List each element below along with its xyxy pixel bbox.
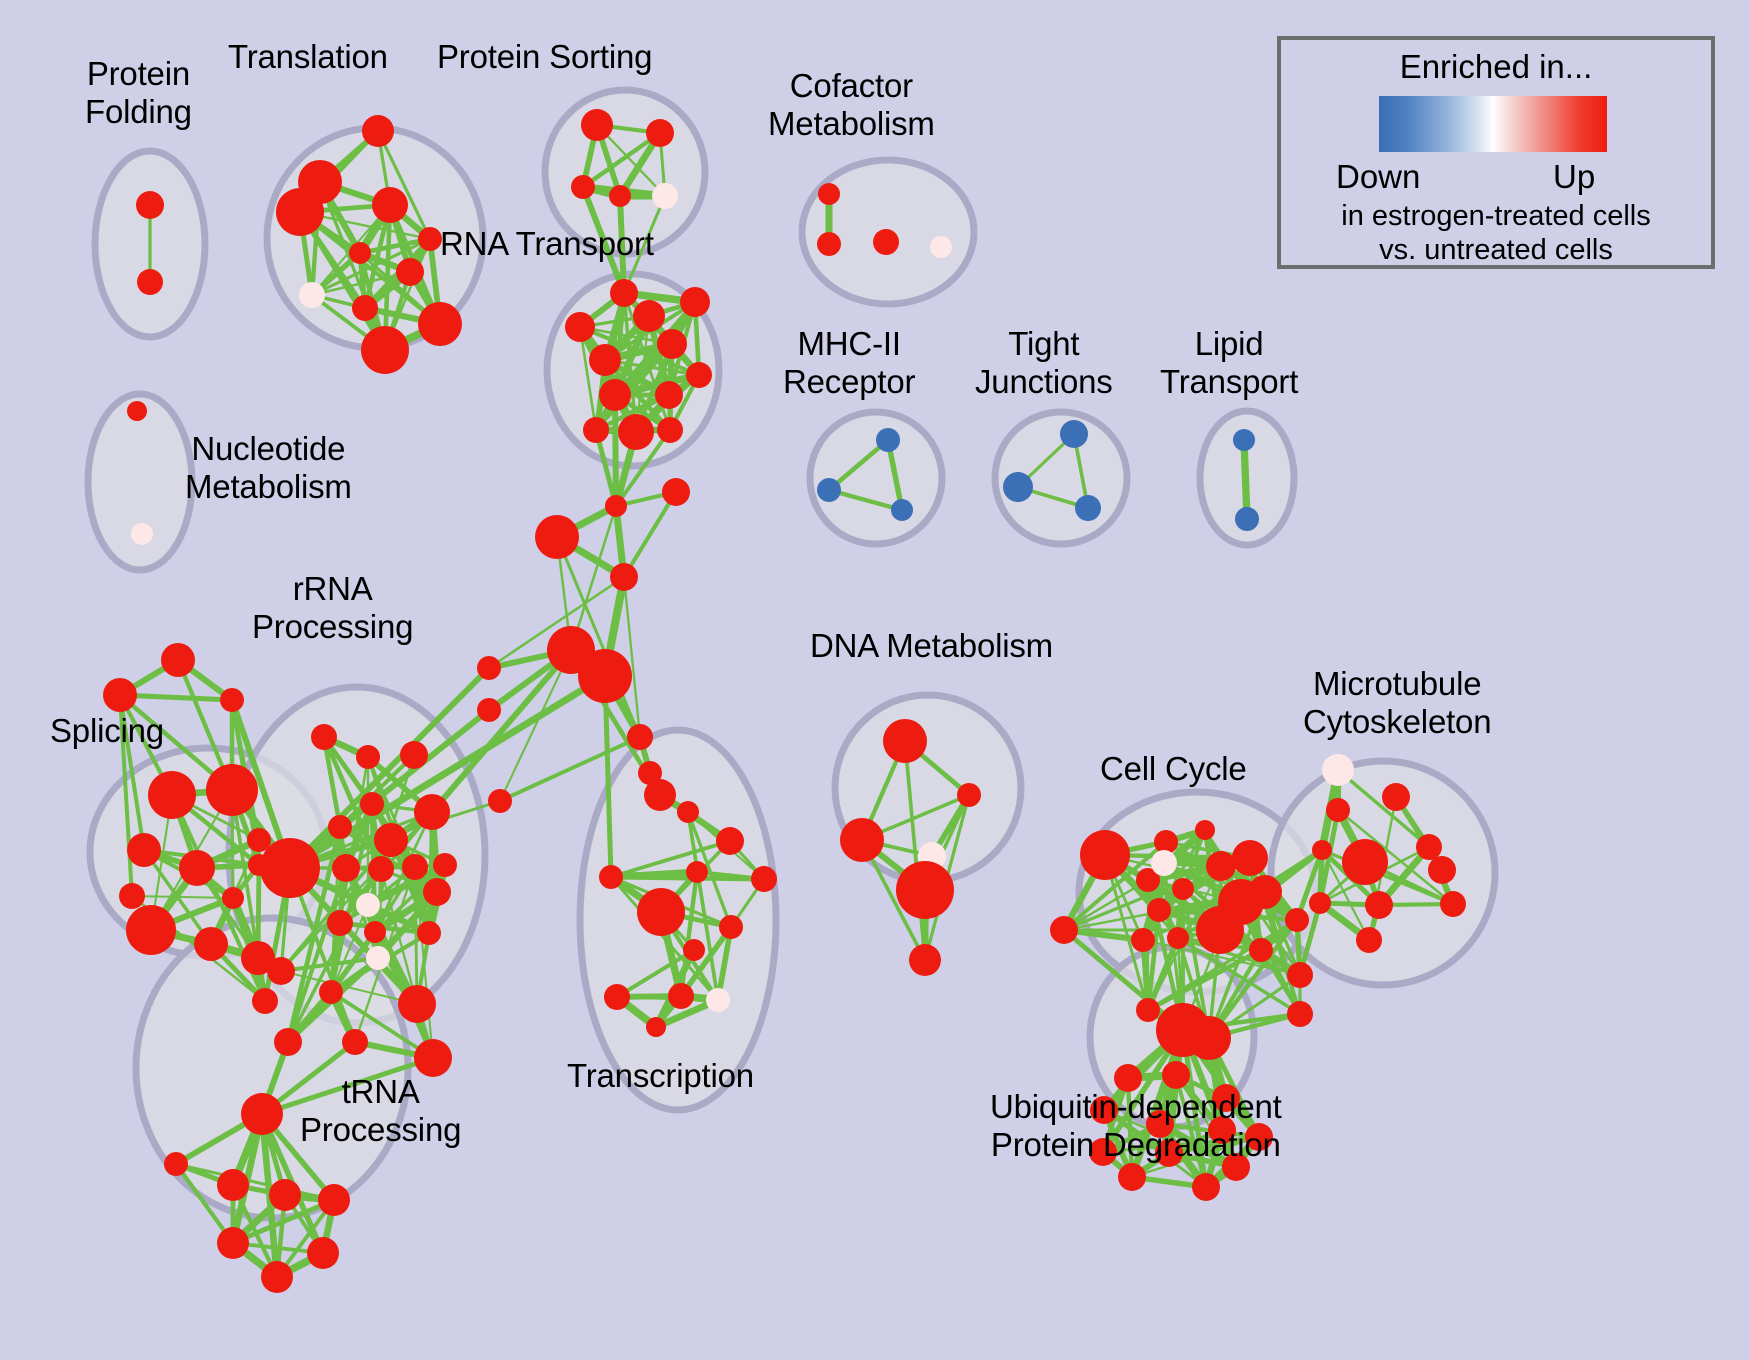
network-node[interactable] — [274, 1028, 302, 1056]
network-node[interactable] — [655, 381, 683, 409]
network-node[interactable] — [318, 1184, 350, 1216]
network-node[interactable] — [1416, 834, 1442, 860]
network-node[interactable] — [161, 643, 195, 677]
cluster-label-transcription: Transcription — [567, 1057, 754, 1095]
cluster-label-nucleotide-metabolism: Nucleotide Metabolism — [185, 430, 352, 506]
legend-high-label: Up — [1553, 158, 1595, 196]
network-node[interactable] — [1233, 429, 1255, 451]
network-node[interactable] — [1003, 472, 1033, 502]
network-node[interactable] — [1195, 820, 1215, 840]
cluster-label-cofactor-metabolism: Cofactor Metabolism — [768, 67, 935, 143]
network-node[interactable] — [267, 957, 295, 985]
network-node[interactable] — [1060, 420, 1088, 448]
network-node[interactable] — [706, 988, 730, 1012]
network-node[interactable] — [751, 866, 777, 892]
network-node[interactable] — [1365, 891, 1393, 919]
network-node[interactable] — [873, 229, 899, 255]
network-node[interactable] — [957, 783, 981, 807]
network-node[interactable] — [261, 1261, 293, 1293]
legend-color-gradient-bar — [1379, 96, 1607, 152]
network-node[interactable] — [657, 417, 683, 443]
network-node[interactable] — [1131, 928, 1155, 952]
network-node[interactable] — [362, 115, 394, 147]
network-node[interactable] — [817, 232, 841, 256]
network-node[interactable] — [1172, 878, 1194, 900]
cluster-label-ubiquitin-protein-degradation: Ubiquitin-dependent Protein Degradation — [990, 1088, 1282, 1164]
network-node[interactable] — [349, 242, 371, 264]
network-node[interactable] — [1162, 1061, 1190, 1089]
network-node[interactable] — [1187, 1016, 1231, 1060]
network-node[interactable] — [909, 944, 941, 976]
network-node[interactable] — [618, 414, 654, 450]
cluster-label-mhc-ii-receptor: MHC-II Receptor — [783, 325, 915, 401]
network-node[interactable] — [891, 499, 913, 521]
network-node[interactable] — [610, 563, 638, 591]
network-node[interactable] — [398, 985, 436, 1023]
network-node[interactable] — [571, 175, 595, 199]
network-node[interactable] — [299, 282, 325, 308]
network-node[interactable] — [1287, 1001, 1313, 1027]
network-node[interactable] — [148, 771, 196, 819]
network-node[interactable] — [327, 910, 353, 936]
network-node[interactable] — [637, 888, 685, 936]
network-node[interactable] — [1050, 916, 1078, 944]
network-node[interactable] — [252, 988, 278, 1014]
network-node[interactable] — [1206, 851, 1236, 881]
network-node[interactable] — [1232, 840, 1268, 876]
network-node[interactable] — [241, 1093, 283, 1135]
network-node[interactable] — [1249, 938, 1273, 962]
network-node[interactable] — [220, 688, 244, 712]
network-node[interactable] — [1080, 830, 1130, 880]
network-node[interactable] — [930, 236, 952, 258]
network-node[interactable] — [686, 362, 712, 388]
network-node[interactable] — [583, 417, 609, 443]
legend-title: Enriched in... — [1281, 48, 1711, 86]
cluster-label-trna-processing: tRNA Processing — [300, 1073, 461, 1149]
network-node[interactable] — [668, 983, 694, 1009]
network-node[interactable] — [1356, 927, 1382, 953]
network-node[interactable] — [477, 656, 501, 680]
network-node[interactable] — [1192, 1173, 1220, 1201]
network-node[interactable] — [719, 915, 743, 939]
network-node[interactable] — [307, 1237, 339, 1269]
network-node[interactable] — [1235, 507, 1259, 531]
network-node[interactable] — [477, 698, 501, 722]
network-node[interactable] — [103, 678, 137, 712]
network-node[interactable] — [119, 883, 145, 909]
network-node[interactable] — [311, 724, 337, 750]
network-edge — [615, 395, 616, 506]
network-node[interactable] — [1322, 754, 1354, 786]
network-node[interactable] — [328, 815, 352, 839]
network-node[interactable] — [1309, 892, 1331, 914]
network-node[interactable] — [136, 191, 164, 219]
cluster-label-splicing: Splicing — [50, 712, 164, 750]
network-node[interactable] — [840, 818, 884, 862]
network-node[interactable] — [652, 183, 678, 209]
network-node[interactable] — [680, 287, 710, 317]
network-node[interactable] — [402, 854, 428, 880]
cluster-label-translation: Translation — [228, 38, 388, 76]
legend-low-label: Down — [1336, 158, 1420, 196]
network-node[interactable] — [414, 1039, 452, 1077]
network-node[interactable] — [1196, 906, 1244, 954]
network-node[interactable] — [1167, 927, 1189, 949]
network-node[interactable] — [657, 329, 687, 359]
network-node[interactable] — [319, 980, 343, 1004]
network-node[interactable] — [361, 326, 409, 374]
network-node[interactable] — [565, 312, 595, 342]
cluster-label-protein-folding: Protein Folding — [85, 55, 192, 131]
network-node[interactable] — [896, 861, 954, 919]
network-node[interactable] — [1428, 856, 1456, 884]
network-node[interactable] — [356, 893, 380, 917]
network-node[interactable] — [1287, 962, 1313, 988]
network-node[interactable] — [488, 789, 512, 813]
network-node[interactable] — [633, 300, 665, 332]
network-node[interactable] — [1118, 1163, 1146, 1191]
network-node[interactable] — [535, 515, 579, 559]
legend-caption-line2: vs. untreated cells — [1281, 234, 1711, 267]
network-node[interactable] — [589, 344, 621, 376]
network-node[interactable] — [368, 856, 394, 882]
network-node[interactable] — [400, 741, 428, 769]
network-node[interactable] — [1075, 495, 1101, 521]
network-edge — [432, 650, 571, 812]
network-node[interactable] — [1151, 850, 1177, 876]
cluster-label-microtubule-cytoskeleton: Microtubule Cytoskeleton — [1303, 665, 1491, 741]
network-node[interactable] — [179, 850, 215, 886]
network-node[interactable] — [217, 1169, 249, 1201]
network-node[interactable] — [677, 801, 699, 823]
network-edge — [624, 492, 676, 577]
network-node[interactable] — [883, 719, 927, 763]
network-node[interactable] — [364, 921, 386, 943]
network-node[interactable] — [414, 794, 450, 830]
network-node[interactable] — [217, 1227, 249, 1259]
legend-box: Enriched in... Down Up in estrogen-treat… — [1277, 36, 1715, 269]
network-node[interactable] — [342, 1029, 368, 1055]
network-node[interactable] — [817, 478, 841, 502]
cluster-label-rna-transport: RNA Transport — [440, 225, 654, 263]
network-node[interactable] — [418, 227, 442, 251]
network-node[interactable] — [1285, 908, 1309, 932]
network-node[interactable] — [374, 823, 408, 857]
network-node[interactable] — [356, 745, 380, 769]
network-node[interactable] — [360, 792, 384, 816]
network-node[interactable] — [876, 428, 900, 452]
network-node[interactable] — [604, 984, 630, 1010]
network-node[interactable] — [1326, 798, 1350, 822]
network-node[interactable] — [206, 764, 258, 816]
network-node[interactable] — [127, 401, 147, 421]
cluster-hull-mhc-ii-receptor — [810, 412, 942, 544]
network-node[interactable] — [433, 853, 457, 877]
network-node[interactable] — [686, 861, 708, 883]
network-figure: Protein FoldingTranslationProtein Sortin… — [0, 0, 1750, 1360]
network-node[interactable] — [276, 188, 324, 236]
network-node[interactable] — [222, 887, 244, 909]
network-node[interactable] — [818, 183, 840, 205]
network-node[interactable] — [417, 921, 441, 945]
network-node[interactable] — [1312, 840, 1332, 860]
network-node[interactable] — [396, 258, 424, 286]
network-node[interactable] — [599, 865, 623, 889]
network-node[interactable] — [599, 379, 631, 411]
cluster-label-lipid-transport: Lipid Transport — [1160, 325, 1298, 401]
cluster-label-tight-junctions: Tight Junctions — [975, 325, 1113, 401]
network-node[interactable] — [1382, 783, 1410, 811]
network-node[interactable] — [716, 827, 744, 855]
network-node[interactable] — [646, 119, 674, 147]
network-node[interactable] — [1147, 898, 1171, 922]
network-node[interactable] — [423, 878, 451, 906]
network-node[interactable] — [610, 279, 638, 307]
network-node[interactable] — [605, 495, 627, 517]
network-node[interactable] — [1136, 998, 1160, 1022]
cluster-label-protein-sorting: Protein Sorting — [437, 38, 652, 76]
cluster-label-cell-cycle: Cell Cycle — [1100, 750, 1247, 788]
cluster-label-rrna-processing: rRNA Processing — [252, 570, 413, 646]
network-node[interactable] — [627, 724, 653, 750]
network-node[interactable] — [609, 185, 631, 207]
network-node[interactable] — [137, 269, 163, 295]
network-node[interactable] — [127, 833, 161, 867]
network-node[interactable] — [646, 1017, 666, 1037]
cluster-label-dna-metabolism: DNA Metabolism — [810, 627, 1053, 665]
network-node[interactable] — [644, 779, 676, 811]
network-node[interactable] — [578, 649, 632, 703]
network-node[interactable] — [1342, 839, 1388, 885]
network-node[interactable] — [366, 946, 390, 970]
network-node[interactable] — [352, 295, 378, 321]
legend-caption-line1: in estrogen-treated cells — [1281, 200, 1711, 233]
network-node[interactable] — [269, 1179, 301, 1211]
network-node[interactable] — [683, 939, 705, 961]
network-node[interactable] — [1440, 891, 1466, 917]
network-node[interactable] — [662, 478, 690, 506]
network-node[interactable] — [332, 854, 360, 882]
network-node[interactable] — [418, 302, 462, 346]
network-node[interactable] — [131, 523, 153, 545]
network-node[interactable] — [164, 1152, 188, 1176]
network-node[interactable] — [581, 109, 613, 141]
network-node[interactable] — [194, 927, 228, 961]
network-node[interactable] — [126, 905, 176, 955]
network-node[interactable] — [372, 187, 408, 223]
network-node[interactable] — [260, 838, 320, 898]
